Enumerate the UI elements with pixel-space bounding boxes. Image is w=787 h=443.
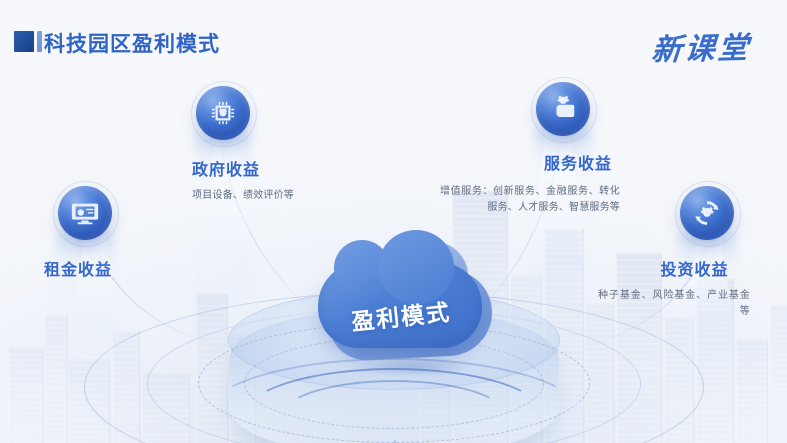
- logo-square-icon: [14, 31, 34, 52]
- monitor-gear-icon[interactable]: [58, 186, 112, 240]
- node-description: 种子基金、风险基金、产业基金等: [598, 288, 750, 319]
- platform-arc-2: [281, 380, 507, 443]
- gear-book-icon[interactable]: [536, 82, 590, 136]
- node-title: 政府收益: [192, 156, 358, 180]
- node-title: 服务收益: [440, 150, 630, 174]
- node-investment-income[interactable]: 投资收益 种子基金、风险基金、产业基金等: [598, 186, 763, 319]
- cloud-icon: 盈利模式: [318, 262, 498, 377]
- logo-bar-icon: [37, 31, 42, 52]
- node-title: 投资收益: [598, 256, 763, 280]
- cpu-chip-gear-icon[interactable]: [196, 86, 250, 140]
- header: 科技园区盈利模式 新课堂: [0, 0, 787, 76]
- node-description: 增值服务：创新服务、金融服务、转化服务、人才服务、智慧服务等: [440, 184, 620, 215]
- gear-refresh-cycle-icon[interactable]: [680, 186, 734, 240]
- node-title: 租金收益: [44, 256, 220, 280]
- slide-canvas: 科技园区盈利模式 新课堂: [0, 0, 787, 443]
- logo-icon: [14, 31, 42, 52]
- brand-logo: 新课堂: [650, 23, 753, 70]
- node-government-revenue[interactable]: 政府收益 项目设备、绩效评价等: [168, 86, 358, 204]
- node-description: 项目设备、绩效评价等: [192, 188, 332, 204]
- page-title: 科技园区盈利模式: [44, 28, 220, 58]
